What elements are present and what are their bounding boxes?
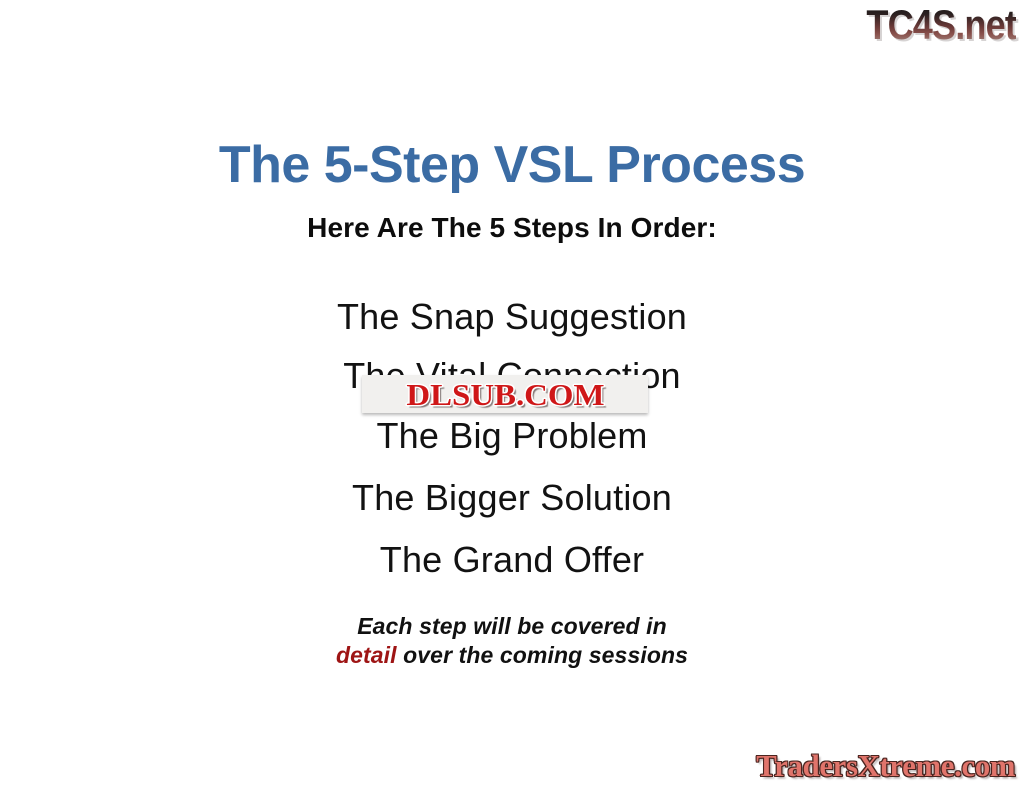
tradersxtreme-logo: TradersXtreme.com	[756, 749, 1015, 783]
footer-note-line-2: detail over the coming sessions	[0, 641, 1024, 670]
steps-list: The Snap Suggestion The Vital Connection…	[0, 289, 1024, 588]
list-item-step-4: The Bigger Solution	[0, 470, 1024, 526]
slide-canvas: TC4S.net TC4S.net The 5-Step VSL Process…	[0, 0, 1024, 791]
footer-note-line-1: Each step will be covered in	[0, 612, 1024, 641]
page-subtitle: Here Are The 5 Steps In Order:	[0, 211, 1024, 245]
tradersxtreme-logo-wrap: TradersXtreme.com	[755, 746, 1016, 786]
list-item-step-5: The Grand Offer	[0, 532, 1024, 588]
page-title: The 5-Step VSL Process	[0, 135, 1024, 195]
footer-note: Each step will be covered in detail over…	[0, 612, 1024, 670]
footer-note-highlight: detail	[336, 642, 397, 668]
list-item-step-3: The Big Problem	[0, 408, 1024, 464]
list-item-step-1: The Snap Suggestion	[0, 289, 1024, 345]
tc4s-logo: TC4S.net	[866, 2, 1016, 48]
footer-note-rest: over the coming sessions	[397, 642, 688, 668]
dlsub-watermark: DLSUB.COM	[362, 375, 648, 413]
dlsub-watermark-label: DLSUB.COM	[406, 379, 604, 410]
